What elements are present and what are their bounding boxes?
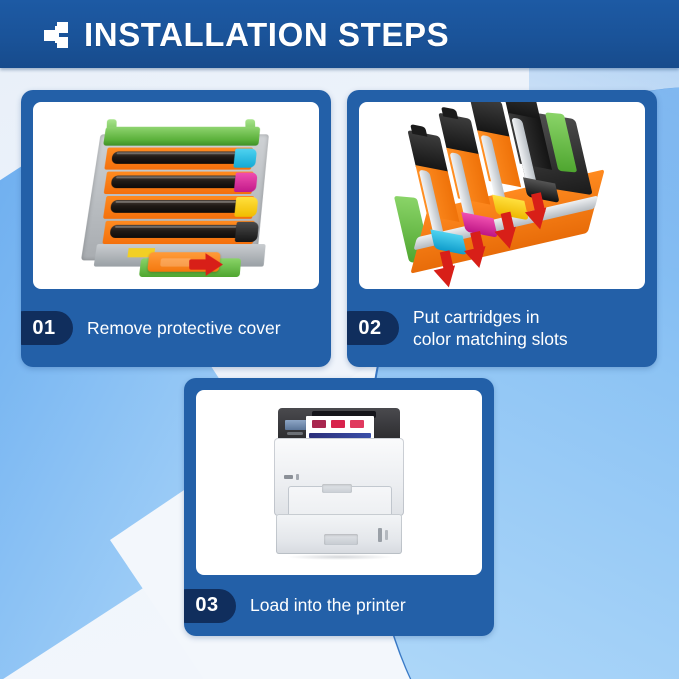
step-card-3: 03 Load into the printer — [184, 378, 494, 636]
installation-steps-page: INSTALLATION STEPS — [0, 0, 679, 679]
cartridge-insert-illustration — [359, 102, 645, 289]
step-1-caption-text: Remove protective cover — [87, 317, 281, 339]
step-2-caption-text: Put cartridges in color matching slots — [413, 306, 568, 351]
step-3-caption-text: Load into the printer — [250, 594, 406, 616]
step-1-photo — [33, 102, 319, 289]
step-card-2: 02 Put cartridges in color matching slot… — [347, 90, 657, 367]
step-3-photo — [196, 390, 482, 575]
step-2-caption: 02 Put cartridges in color matching slot… — [347, 289, 657, 367]
blocks-icon — [44, 21, 70, 49]
step-card-1: 01 Remove protective cover — [21, 90, 331, 367]
step-1-caption: 01 Remove protective cover — [21, 289, 331, 367]
step-3-caption: 03 Load into the printer — [184, 575, 494, 636]
drum-unit-illustration — [33, 102, 319, 289]
step-2-number-badge: 02 — [347, 311, 399, 345]
step-1-number-badge: 01 — [21, 311, 73, 345]
step-2-photo — [359, 102, 645, 289]
printer-illustration — [196, 390, 482, 575]
step-3-number-badge: 03 — [184, 589, 236, 623]
page-title: INSTALLATION STEPS — [84, 18, 449, 51]
page-header: INSTALLATION STEPS — [0, 0, 679, 68]
